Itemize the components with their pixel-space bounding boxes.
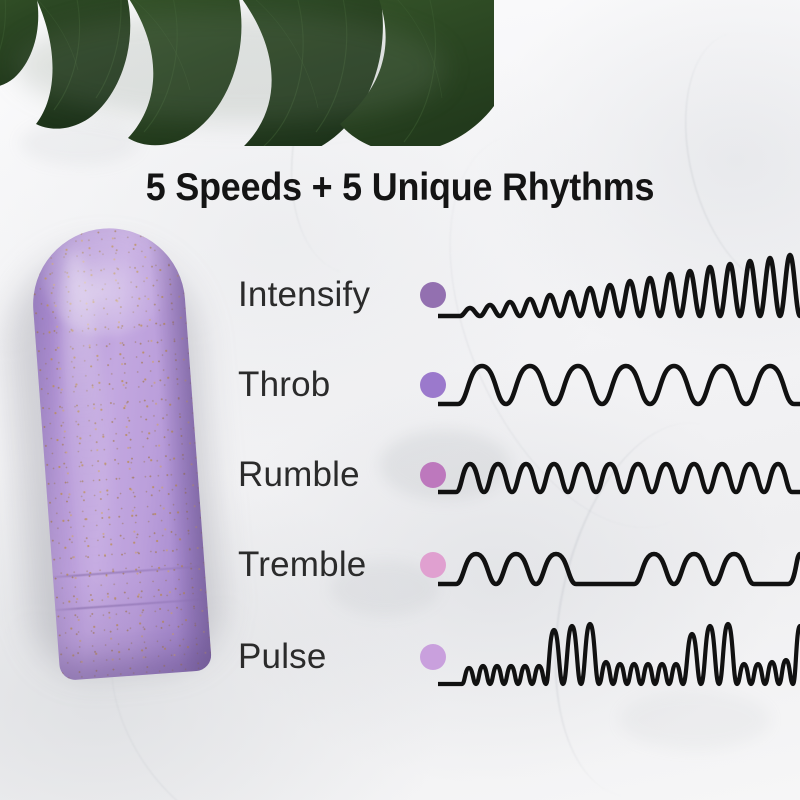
rhythm-label: Throb xyxy=(238,365,330,405)
waveform-svg xyxy=(438,340,800,430)
rhythm-row-intensify: Intensify xyxy=(0,250,800,340)
rhythm-row-throb: Throb xyxy=(0,340,800,430)
waveform-svg xyxy=(438,430,800,520)
rhythm-label: Tremble xyxy=(238,545,366,585)
rhythm-row-pulse: Pulse xyxy=(0,612,800,702)
rhythm-waveform-pulse xyxy=(438,612,800,702)
product-infographic: 5 Speeds + 5 Unique Rhythms Intensify Th… xyxy=(0,0,800,800)
rhythm-label: Intensify xyxy=(238,275,370,315)
waveform-svg xyxy=(438,520,800,610)
rhythm-row-tremble: Tremble xyxy=(0,520,800,610)
rhythm-waveform-rumble xyxy=(438,430,800,520)
waveform-svg xyxy=(438,250,800,340)
rhythm-waveform-throb xyxy=(438,340,800,430)
rhythm-label: Pulse xyxy=(238,637,327,677)
rhythm-row-rumble: Rumble xyxy=(0,430,800,520)
waveform-svg xyxy=(438,612,800,702)
rhythm-label: Rumble xyxy=(238,455,360,495)
rhythm-waveform-tremble xyxy=(438,520,800,610)
rhythm-waveform-intensify xyxy=(438,250,800,340)
rhythm-list: Intensify Throb Rumble xyxy=(0,0,800,800)
